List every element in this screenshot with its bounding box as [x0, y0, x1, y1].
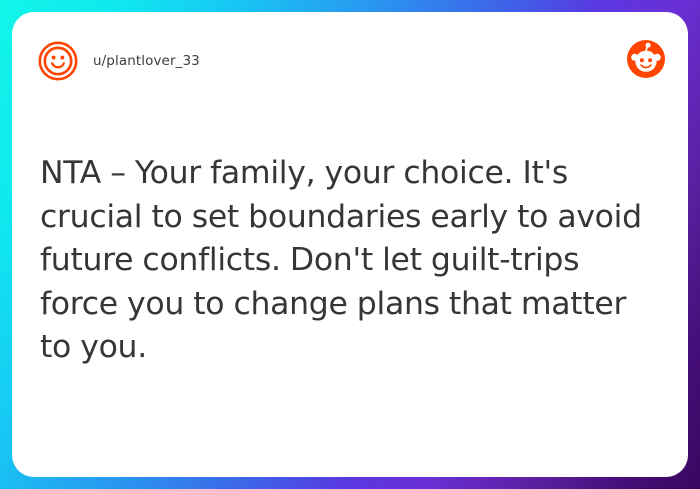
avatar[interactable] — [37, 40, 79, 82]
card-header: u/plantlover_33 — [12, 12, 688, 104]
comment-text: NTA – Your family, your choice. It's cru… — [40, 152, 662, 370]
screenshot-stage: u/plantlover_33 NTA – Your family, your … — [0, 0, 700, 489]
comment-body: NTA – Your family, your choice. It's cru… — [40, 152, 662, 370]
username-label: u/plantlover_33 — [93, 52, 200, 70]
reddit-comment-card: u/plantlover_33 NTA – Your family, your … — [12, 12, 688, 477]
reddit-snoo-icon — [627, 40, 665, 78]
